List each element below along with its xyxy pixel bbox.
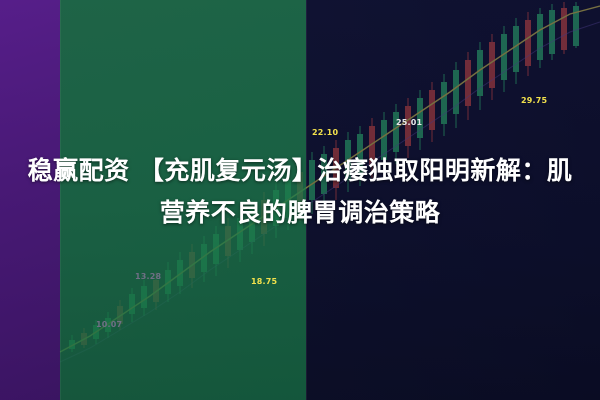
price-label-18-75: 18.75 [251,277,277,286]
price-label-22-10: 22.10 [312,128,338,137]
price-label-13-28: 13.28 [135,272,161,281]
price-label-29-75: 29.75 [521,96,547,105]
headline-line-1: 稳赢配资 【充肌复元汤】治痿独取阳明新解：肌 [14,150,586,192]
screenshot-root: 29.75 25.01 22.10 18.75 13.28 10.07 稳赢配资… [0,0,600,400]
price-label-10-07: 10.07 [96,320,122,329]
price-label-25-01: 25.01 [396,118,422,127]
headline-line-2: 营养不良的脾胃调治策略 [14,192,586,234]
headline-overlay: 稳赢配资 【充肌复元汤】治痿独取阳明新解：肌 营养不良的脾胃调治策略 [0,150,600,234]
